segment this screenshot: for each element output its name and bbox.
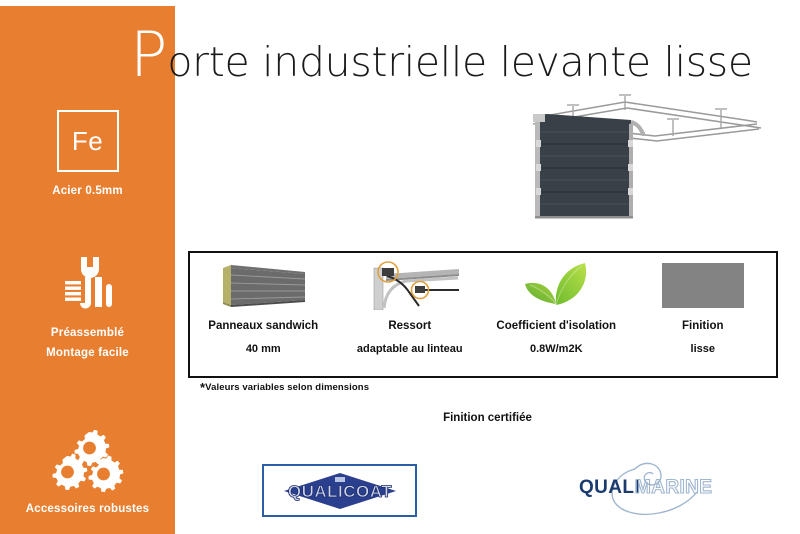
finish-swatch-icon <box>662 259 744 311</box>
feature-column-spring: Ressort adaptable au linteau <box>337 253 484 376</box>
certification-heading: Finition certifiée <box>0 412 800 424</box>
fe-element-icon: Fe <box>57 110 119 172</box>
sandwich-panel-icon <box>215 259 311 311</box>
qualicoat-logo: QUALICOAT QUALICOAT <box>262 464 417 517</box>
feature-column-panel: Panneaux sandwich 40 mm <box>190 253 337 376</box>
sidebar-item-accessories-label: Accessoires robustes <box>0 501 175 517</box>
features-panel: Panneaux sandwich 40 mm <box>188 251 778 378</box>
feature-column-insulation: Coefficient d'isolation 0.8W/m2K <box>483 253 630 376</box>
footnote: *Valeurs variables selon dimensions <box>200 382 369 397</box>
sidebar-item-preassembled-label-1: Préassemblé <box>0 325 175 341</box>
industrial-sectional-door-photo <box>505 88 790 228</box>
sidebar-item-steel: Fe Acier 0.5mm <box>0 110 175 199</box>
feature-column-finish: Finition lisse <box>630 253 777 376</box>
feature-value-insulation: 0.8W/m2K <box>530 343 583 355</box>
sidebar-item-accessories: Accessoires robustes <box>0 430 175 517</box>
feature-value-spring: adaptable au linteau <box>357 343 463 355</box>
fe-symbol: Fe <box>72 128 103 154</box>
footnote-text: Valeurs variables selon dimensions <box>205 382 369 393</box>
feature-title-insulation: Coefficient d'isolation <box>496 320 616 332</box>
qualicoat-logo-text: QUALICOAT <box>287 482 391 501</box>
green-leaves-icon <box>516 259 596 311</box>
feature-value-finish: lisse <box>691 343 715 355</box>
feature-value-panel: 40 mm <box>246 343 281 355</box>
qualimarine-logo-text-dark: QUALI <box>579 477 640 498</box>
page-title-initial: P <box>130 26 167 84</box>
spring-rail-icon <box>360 259 460 311</box>
page-title: Porte industrielle levante lisse <box>130 26 753 84</box>
qualimarine-logo: QUALI MARINE QUALI MARINE <box>557 455 717 517</box>
poster-page: Fe Acier 0.5mm <box>0 0 800 534</box>
wrench-tools-icon <box>0 254 175 316</box>
feature-title-spring: Ressort <box>388 320 431 332</box>
footnote-marker: * <box>200 380 205 395</box>
page-title-text: orte industrielle levante lisse <box>167 33 752 91</box>
feature-title-panel: Panneaux sandwich <box>208 320 318 332</box>
sidebar-item-steel-label: Acier 0.5mm <box>0 183 175 199</box>
qualimarine-logo-text-light: MARINE <box>635 477 712 498</box>
gears-icon <box>0 430 175 492</box>
feature-title-finish: Finition <box>682 320 724 332</box>
sidebar-item-preassembled-label-2: Montage facile <box>0 345 175 361</box>
sidebar-item-preassembled: Préassemblé Montage facile <box>0 254 175 361</box>
